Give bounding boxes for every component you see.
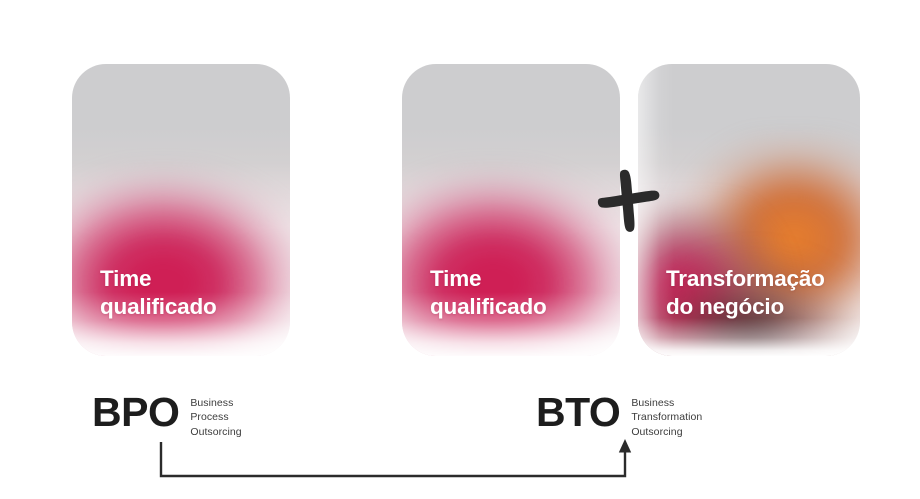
bpo-team-card[interactable]: Time qualificado bbox=[72, 64, 290, 356]
plus-sign-icon bbox=[591, 163, 665, 237]
card-bottom-fade bbox=[638, 318, 860, 356]
bpo-acronym: BPO bbox=[92, 392, 179, 433]
bpo-expansion: Business Process Outsorcing bbox=[190, 396, 241, 439]
diagram-canvas: Time qualificado Time qualificado Transf… bbox=[0, 0, 920, 499]
bto-expansion: Business Transformation Outsorcing bbox=[631, 396, 702, 439]
card-title: Time qualificado bbox=[100, 265, 217, 320]
bpo-label-group: BPO Business Process Outsorcing bbox=[92, 392, 242, 439]
bto-team-card[interactable]: Time qualificado bbox=[402, 64, 620, 356]
card-title: Time qualificado bbox=[430, 265, 547, 320]
bpo-to-bto-arrow bbox=[158, 436, 644, 488]
bto-acronym: BTO bbox=[536, 392, 620, 433]
bto-transformation-card[interactable]: Transformação do negócio bbox=[638, 64, 860, 356]
bto-label-group: BTO Business Transformation Outsorcing bbox=[536, 392, 702, 439]
card-title: Transformação do negócio bbox=[666, 265, 825, 320]
